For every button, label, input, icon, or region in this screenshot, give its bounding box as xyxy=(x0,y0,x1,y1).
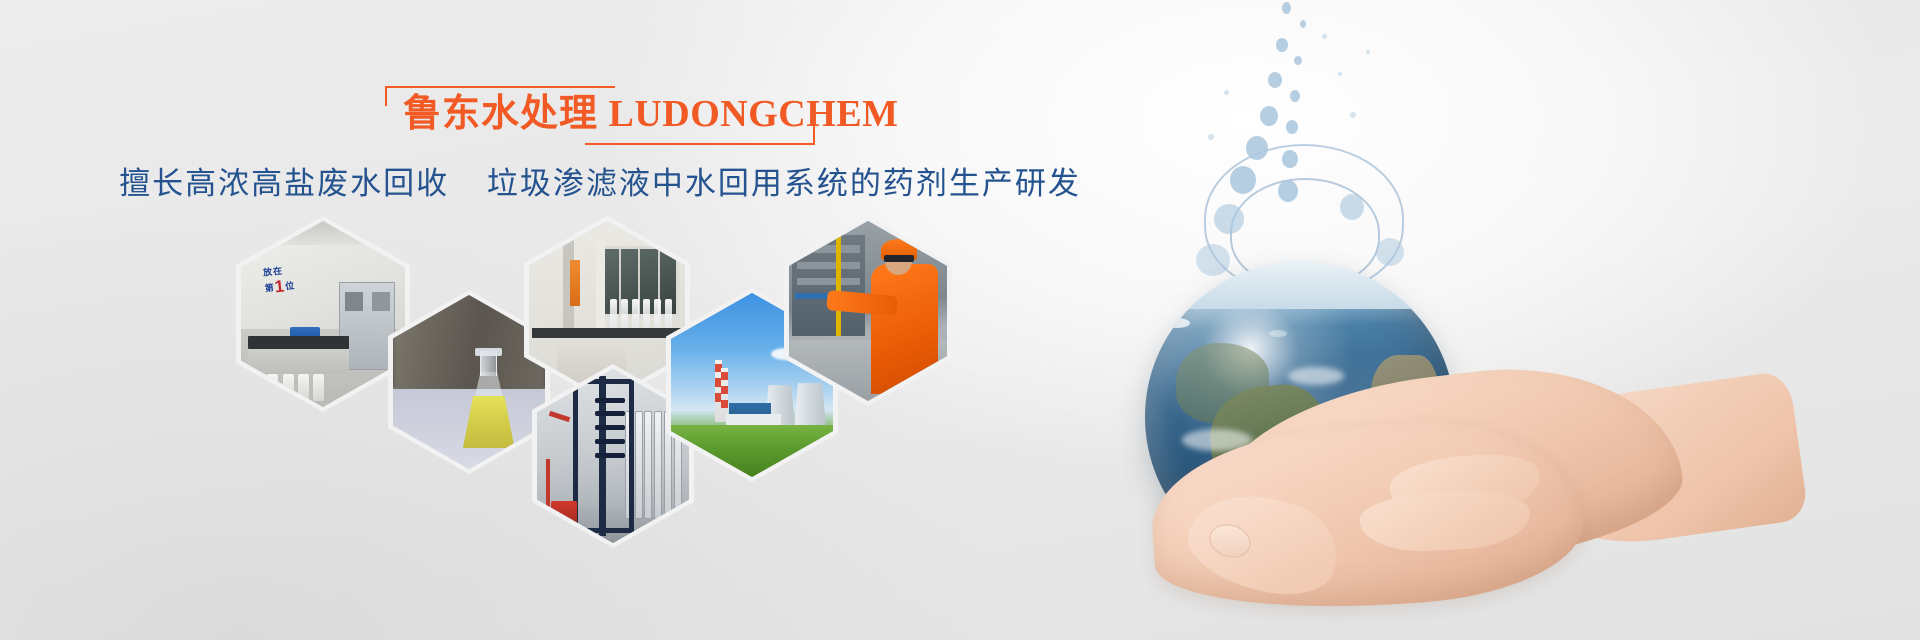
bracket-bottom-right-decoration xyxy=(585,125,815,145)
cupped-hands xyxy=(1060,330,1780,640)
laboratory-room-photo: 放在 第1位 xyxy=(241,221,405,407)
wall-slogan-text: 放在 第1位 xyxy=(262,262,296,298)
plant-worker-orange-uniform-photo xyxy=(789,221,947,401)
subtitle-part-1: 擅长高浓高盐废水回收 xyxy=(119,166,449,202)
hero-subtitle: 擅长高浓高盐废水回收 垃圾渗滤液中水回用系统的药剂生产研发 xyxy=(0,158,1200,203)
hexagon-laboratory-room: 放在 第1位 xyxy=(236,216,410,412)
hero-text-block: 鲁东水处理 LUDONGCHEM 擅长高浓高盐废水回收 垃圾渗滤液中水回用系统的… xyxy=(0,86,1200,203)
subtitle-part-2: 垃圾渗滤液中水回用系统的药剂生产研发 xyxy=(487,166,1081,202)
hands-holding-water-globe xyxy=(1060,0,1920,640)
hexagon-photo-cluster: 放在 第1位 xyxy=(236,216,956,506)
brand-title-wrap: 鲁东水处理 LUDONGCHEM xyxy=(385,86,815,145)
bracket-top-left-decoration xyxy=(385,86,615,106)
hero-banner: 鲁东水处理 LUDONGCHEM 擅长高浓高盐废水回收 垃圾渗滤液中水回用系统的… xyxy=(0,0,1920,640)
yellow-reagent-flask-photo xyxy=(393,295,545,469)
